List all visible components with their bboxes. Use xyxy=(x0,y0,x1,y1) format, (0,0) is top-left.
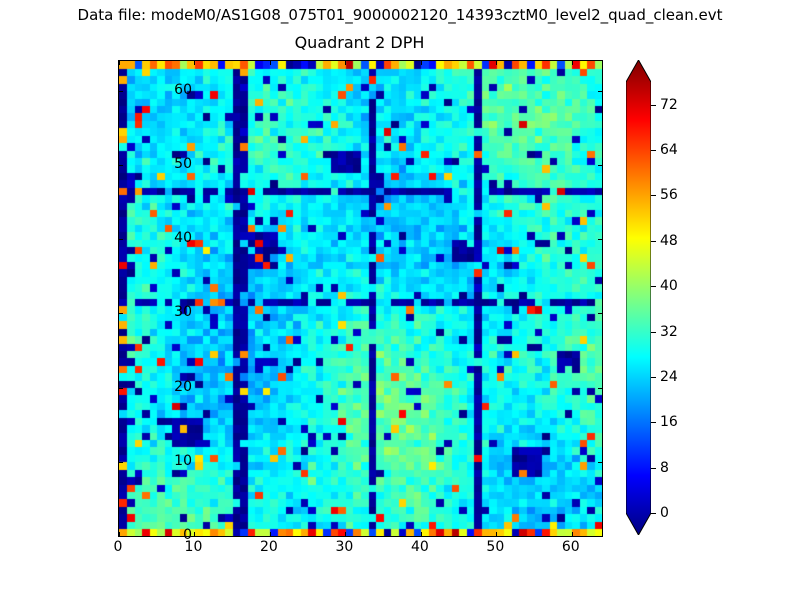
y-tick-mark xyxy=(598,239,602,240)
colorbar-tick-label: 8 xyxy=(660,460,669,476)
y-tick-label: 40 xyxy=(174,230,192,246)
y-tick-label: 10 xyxy=(174,453,192,469)
x-tick-mark xyxy=(572,532,573,536)
y-tick-mark xyxy=(119,313,123,314)
colorbar-tick-mark xyxy=(651,195,656,196)
colorbar-tick-mark xyxy=(651,332,656,333)
y-tick-mark xyxy=(119,165,123,166)
colorbar-tick-label: 0 xyxy=(660,505,669,521)
colorbar-tick-mark xyxy=(651,286,656,287)
x-tick-label: 0 xyxy=(114,539,123,555)
y-tick-mark xyxy=(119,536,123,537)
x-tick-label: 20 xyxy=(260,539,278,555)
colorbar-tick-mark xyxy=(651,377,656,378)
colorbar[interactable]: 081624324048566472 xyxy=(626,60,651,535)
y-tick-mark xyxy=(598,388,602,389)
plot-title: Quadrant 2 DPH xyxy=(118,33,601,52)
colorbar-tick-mark xyxy=(651,241,656,242)
y-tick-mark xyxy=(119,239,123,240)
x-tick-label: 50 xyxy=(486,539,504,555)
colorbar-gradient xyxy=(626,60,651,535)
x-tick-label: 60 xyxy=(562,539,580,555)
y-tick-mark xyxy=(119,388,123,389)
colorbar-tick-label: 72 xyxy=(660,97,678,113)
x-tick-mark xyxy=(496,61,497,65)
colorbar-tick-label: 64 xyxy=(660,142,678,158)
x-tick-mark xyxy=(421,532,422,536)
colorbar-tick-mark xyxy=(651,105,656,106)
y-tick-label: 30 xyxy=(174,304,192,320)
colorbar-tick-label: 24 xyxy=(660,369,678,385)
colorbar-tick-mark xyxy=(651,513,656,514)
y-tick-mark xyxy=(598,165,602,166)
data-file-label: Data file: modeM0/AS1G08_075T01_90000021… xyxy=(0,6,800,24)
x-tick-mark xyxy=(345,532,346,536)
colorbar-tick-label: 32 xyxy=(660,324,678,340)
colorbar-tick-label: 48 xyxy=(660,233,678,249)
y-tick-label: 0 xyxy=(183,527,192,543)
y-tick-label: 50 xyxy=(174,156,192,172)
x-tick-mark xyxy=(421,61,422,65)
x-tick-label: 40 xyxy=(411,539,429,555)
y-tick-mark xyxy=(598,536,602,537)
y-tick-mark xyxy=(119,462,123,463)
x-tick-mark xyxy=(270,61,271,65)
figure-canvas: Data file: modeM0/AS1G08_075T01_90000021… xyxy=(0,0,800,600)
x-tick-mark xyxy=(572,61,573,65)
x-tick-mark xyxy=(194,532,195,536)
x-tick-mark xyxy=(119,61,120,65)
y-tick-mark xyxy=(119,91,123,92)
colorbar-tick-mark xyxy=(651,422,656,423)
y-tick-mark xyxy=(598,462,602,463)
y-tick-mark xyxy=(598,313,602,314)
x-tick-label: 30 xyxy=(335,539,353,555)
colorbar-tick-label: 56 xyxy=(660,187,678,203)
colorbar-tick-mark xyxy=(651,468,656,469)
x-tick-mark xyxy=(345,61,346,65)
y-tick-label: 60 xyxy=(174,82,192,98)
x-tick-mark xyxy=(270,532,271,536)
colorbar-tick-mark xyxy=(651,150,656,151)
colorbar-tick-label: 16 xyxy=(660,414,678,430)
y-tick-label: 20 xyxy=(174,379,192,395)
y-tick-mark xyxy=(598,91,602,92)
x-tick-mark xyxy=(194,61,195,65)
x-tick-mark xyxy=(496,532,497,536)
colorbar-tick-label: 40 xyxy=(660,278,678,294)
